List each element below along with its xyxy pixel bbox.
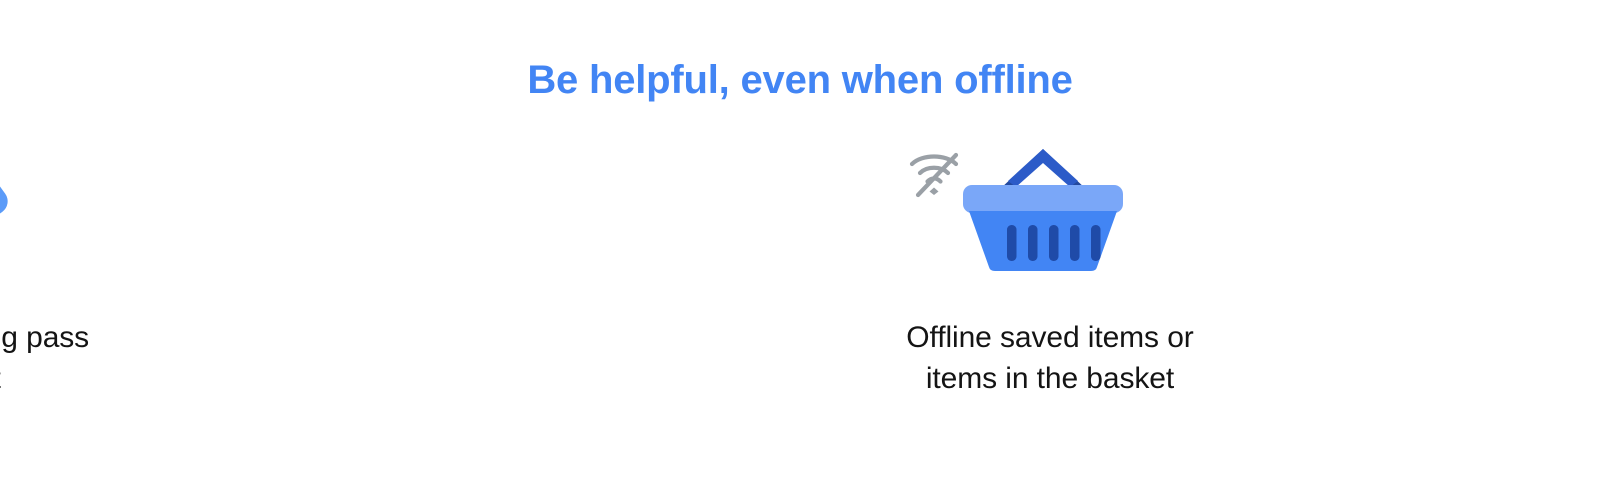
caption-line-2: items in the basket bbox=[840, 358, 1260, 399]
feature-columns: Offline boarding pass or ticket bbox=[0, 135, 1600, 435]
caption-line-2: or ticket bbox=[0, 358, 159, 399]
ticket-icon-area bbox=[0, 135, 99, 305]
feature-caption-offline-saved-items: Offline saved items or items in the bask… bbox=[840, 317, 1260, 399]
page-title: Be helpful, even when offline bbox=[0, 55, 1600, 105]
shopping-basket-icon bbox=[958, 141, 1128, 271]
offline-features-infographic: Be helpful, even when offline bbox=[0, 0, 1600, 485]
feature-caption-offline-boarding-pass: Offline boarding pass or ticket bbox=[0, 317, 159, 399]
feature-item-offline-boarding-pass: Offline boarding pass or ticket bbox=[0, 135, 215, 399]
basket-icon-area bbox=[900, 135, 1200, 305]
caption-line-1: Offline saved items or bbox=[840, 317, 1260, 358]
feature-item-offline-saved-items: Offline saved items or items in the bask… bbox=[783, 135, 1316, 399]
caption-line-1: Offline boarding pass bbox=[0, 317, 159, 358]
ticket-icon bbox=[0, 135, 17, 300]
